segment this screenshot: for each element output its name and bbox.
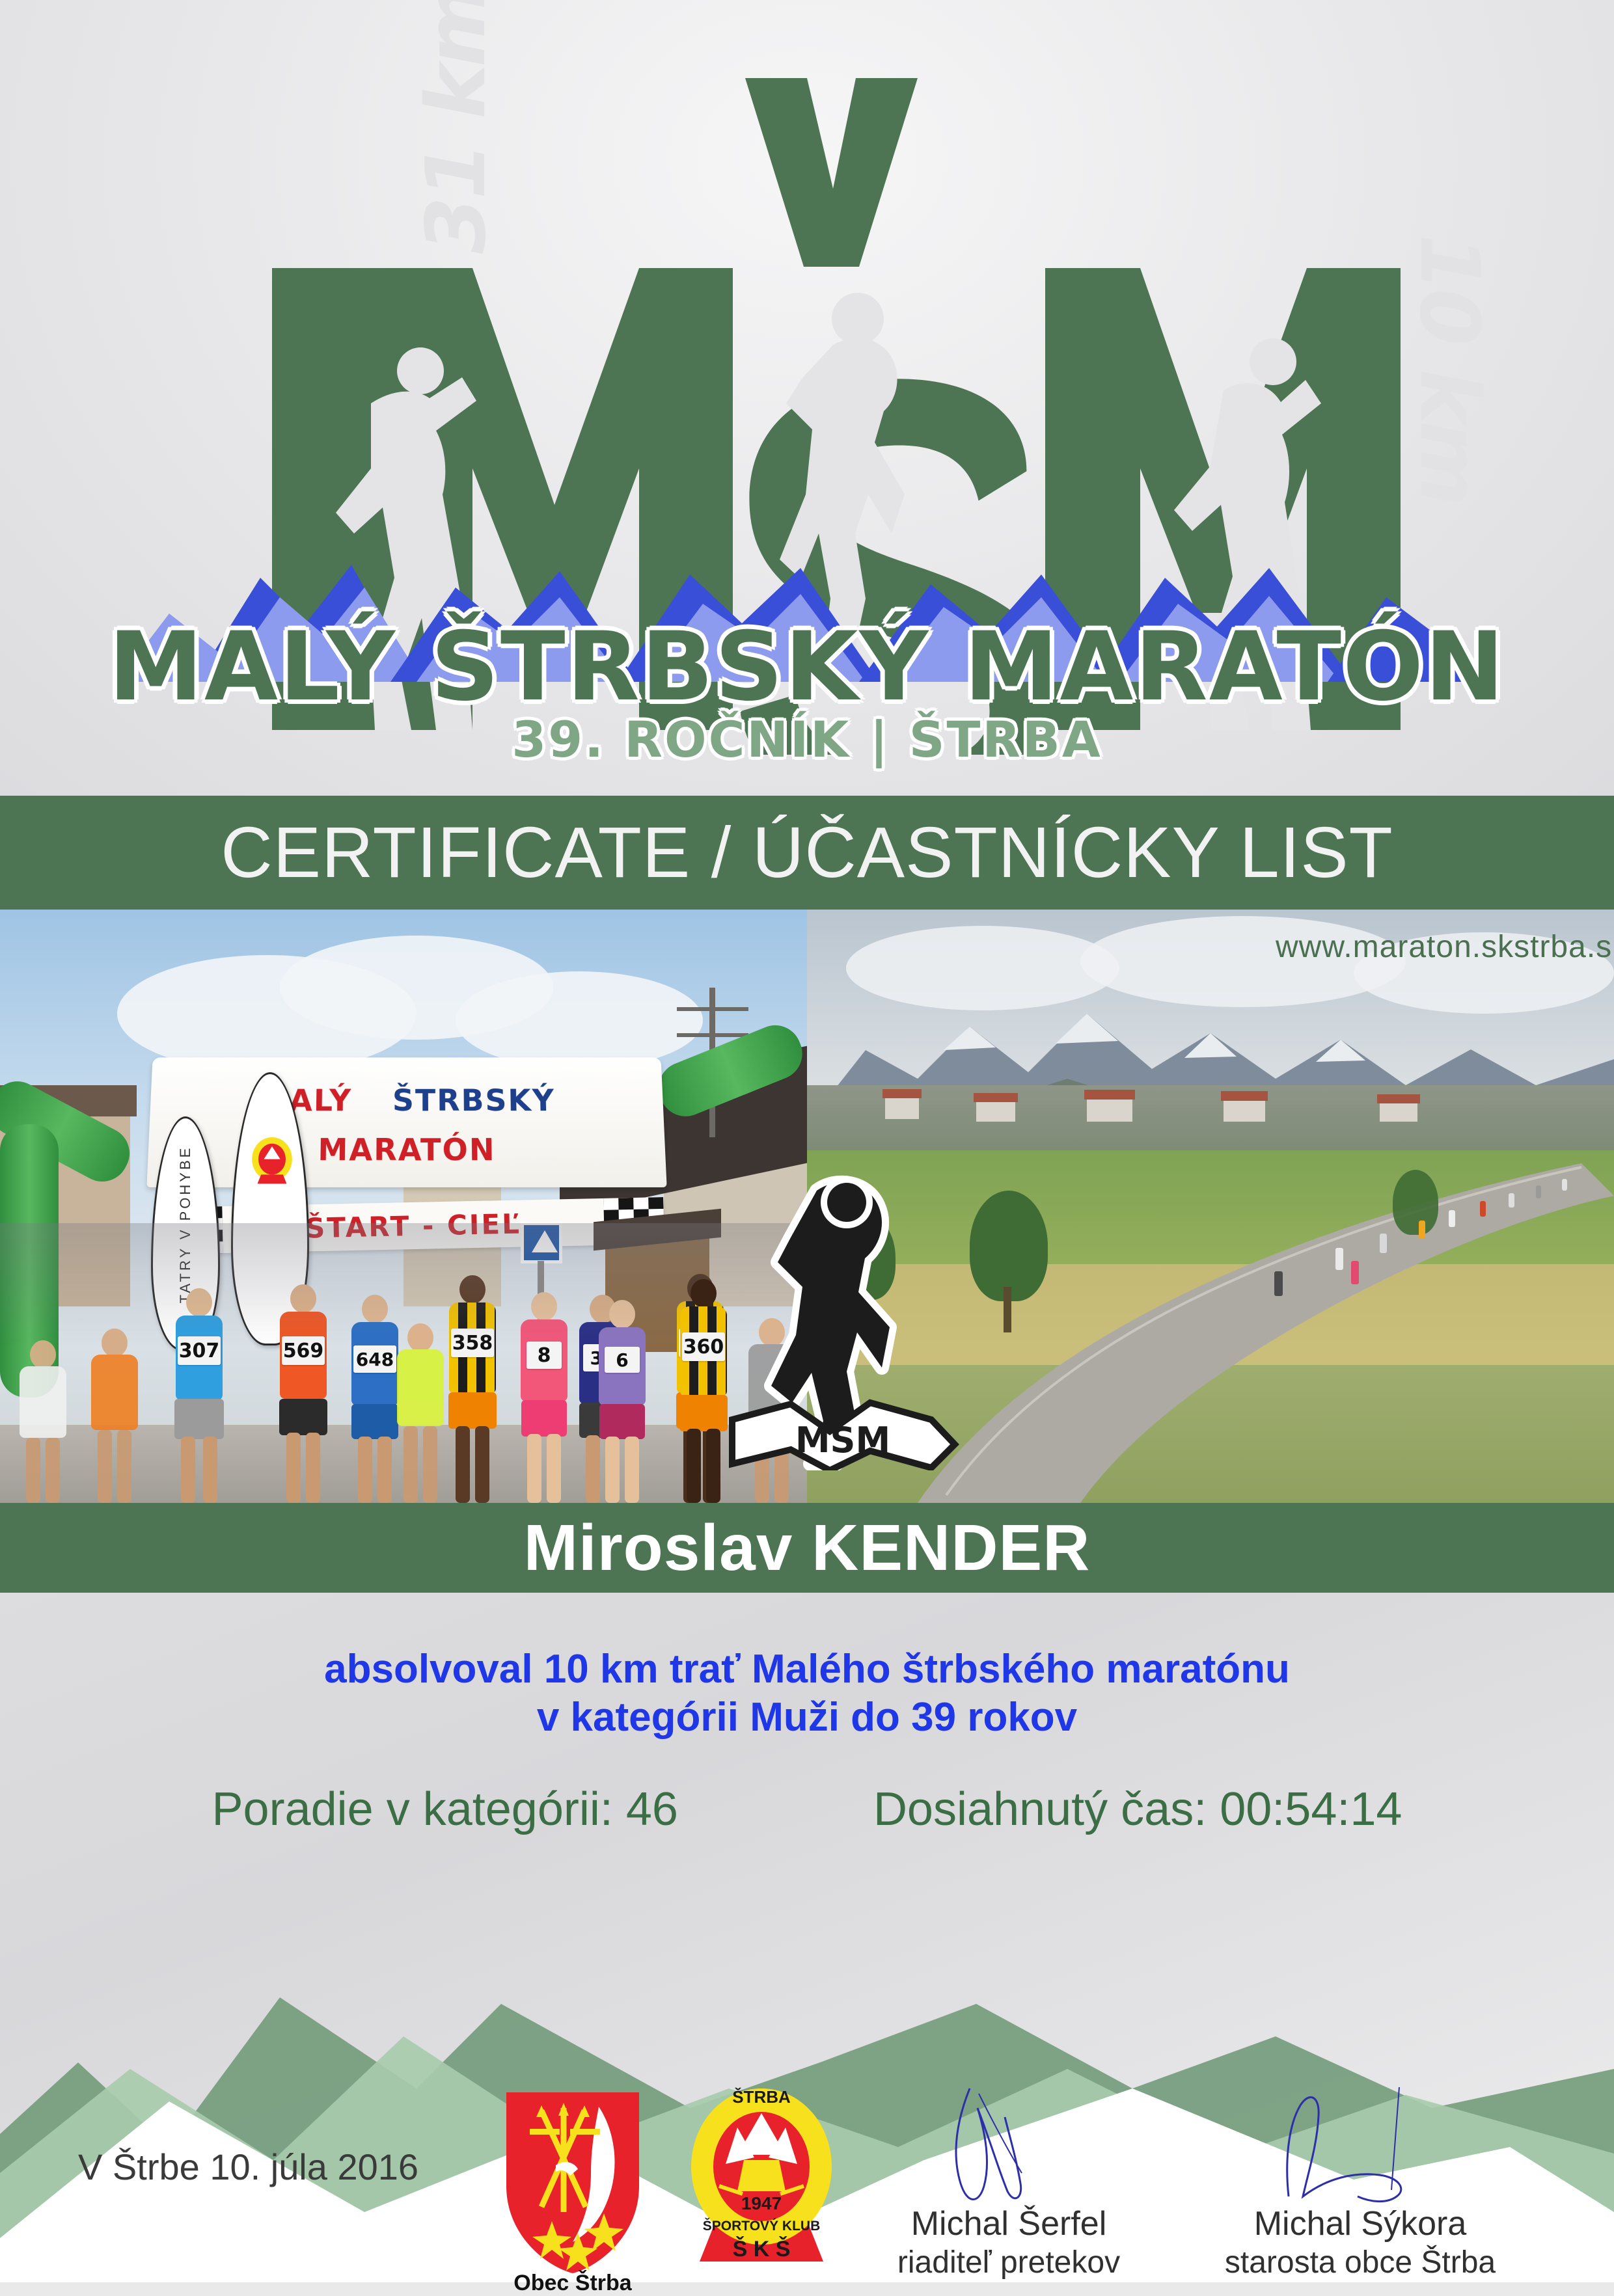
runner-shorts xyxy=(174,1399,224,1439)
event-subtitle: 39. ROČNÍK | ŠTRBA xyxy=(0,710,1614,768)
tree-trunk xyxy=(1004,1287,1011,1332)
runner xyxy=(85,1329,144,1503)
village-roof xyxy=(1377,1094,1420,1103)
arch-word-strbsky: ŠTRBSKÝ xyxy=(392,1083,556,1118)
arch-line1: MALÝ ŠTRBSKÝ xyxy=(150,1083,663,1118)
msm-runner-overlay-icon: MŠM xyxy=(719,1165,966,1470)
logo-caron xyxy=(745,78,918,267)
distant-runner xyxy=(1509,1193,1514,1208)
runner-shorts xyxy=(279,1399,327,1435)
category-rank: Poradie v kategórii: 46 xyxy=(212,1783,678,1836)
finish-time: Dosiahnutý čas: 00:54:14 xyxy=(873,1783,1402,1836)
village-house xyxy=(1087,1097,1132,1122)
village-roof xyxy=(974,1093,1018,1102)
sks-initials: Š K Š xyxy=(733,2236,791,2262)
runner-crowd: 307 358 32 xyxy=(0,1223,807,1503)
distant-runner xyxy=(1335,1248,1343,1270)
certificate-banner-text: CERTIFICATE / ÚČASTNÍCKY LIST xyxy=(221,811,1393,894)
sks-club-logo-icon: ŠTRBA 1947 ŠPORTOVÝ KLUB Š K Š xyxy=(687,2082,836,2277)
event-logo-header: 31 km 10 km MALÝ ŠTRBSKÝ MARATÓN 39. ROČ… xyxy=(0,0,1614,796)
runner-shorts xyxy=(599,1404,645,1439)
distant-runner xyxy=(1536,1185,1541,1198)
issue-date: V Štrbe 10. júla 2016 xyxy=(78,2146,418,2188)
result-row: Poradie v kategórii: 46 Dosiahnutý čas: … xyxy=(0,1783,1614,1836)
utility-crossarm xyxy=(677,1007,748,1011)
sks-top-text: ŠTRBA xyxy=(732,2087,791,2107)
photo-start-line: MALÝ ŠTRBSKÝ MARATÓN ŠTART - CIEĽ xyxy=(0,910,807,1503)
distant-runner xyxy=(1380,1234,1387,1253)
distant-runner xyxy=(1419,1221,1425,1239)
arch-banner-top: MALÝ ŠTRBSKÝ MARATÓN xyxy=(146,1057,666,1187)
certificate-banner: CERTIFICATE / ÚČASTNÍCKY LIST xyxy=(0,796,1614,910)
arch-word-maraton: MARATÓN xyxy=(318,1132,496,1167)
obec-strba-crest-icon xyxy=(501,2088,644,2277)
sks-arc-text: ŠPORTOVÝ KLUB xyxy=(703,2218,820,2234)
runner-shorts xyxy=(448,1392,497,1429)
distant-runner xyxy=(1274,1271,1283,1296)
village-house xyxy=(1224,1098,1265,1122)
description-line-2: v kategórii Muži do 39 rokov xyxy=(0,1694,1614,1740)
runner-head xyxy=(691,1279,717,1308)
certificate-page: 31 km 10 km MALÝ ŠTRBSKÝ MARATÓN 39. ROČ… xyxy=(0,0,1614,2282)
participant-name-banner: Miroslav KENDER xyxy=(0,1503,1614,1593)
signatory-name: Michal Sýkora xyxy=(1191,2204,1529,2243)
msm-overlay-text: MŠM xyxy=(795,1420,890,1461)
distant-runner xyxy=(1562,1179,1567,1191)
website-url: www.maraton.skstrba.sk xyxy=(1276,929,1601,965)
certificate-body: absolvoval 10 km trať Malého štrbského m… xyxy=(0,1593,1614,1879)
runner xyxy=(13,1340,73,1503)
description-line-1: absolvoval 10 km trať Malého štrbského m… xyxy=(0,1646,1614,1692)
distant-runner xyxy=(1351,1261,1359,1284)
village-roof xyxy=(1084,1090,1135,1100)
sks-mini-logo-icon xyxy=(245,1133,299,1187)
arch-line2: MARATÓN xyxy=(148,1132,666,1167)
signature-scribble-icon xyxy=(840,2082,1178,2206)
distant-runner xyxy=(1480,1201,1486,1217)
distant-runner xyxy=(1449,1210,1455,1227)
village-house xyxy=(1380,1101,1417,1122)
utility-crossarm xyxy=(677,1033,748,1037)
tree xyxy=(970,1191,1048,1301)
signature-scribble-icon xyxy=(1191,2082,1529,2206)
municipality-label: Obec Štrba xyxy=(501,2271,644,2296)
village-roof xyxy=(882,1089,922,1098)
signatory-role: starosta obce Štrba xyxy=(1191,2245,1529,2280)
village-house xyxy=(976,1100,1015,1122)
village-roof xyxy=(1221,1091,1268,1101)
certificate-footer: V Štrbe 10. júla 2016 xyxy=(0,2075,1614,2282)
signatory-name: Michal Šerfel xyxy=(840,2204,1178,2243)
sks-year: 1947 xyxy=(741,2193,782,2213)
event-title: MALÝ ŠTRBSKÝ MARATÓN xyxy=(0,612,1614,722)
runner-shorts xyxy=(521,1400,567,1437)
runner xyxy=(390,1323,450,1503)
signatory-role: riaditeľ pretekov xyxy=(840,2245,1178,2280)
village-house xyxy=(885,1096,919,1119)
cloud xyxy=(456,971,703,1069)
tree xyxy=(1393,1170,1438,1235)
bib-number: 6 xyxy=(605,1347,640,1373)
participant-name: Miroslav KENDER xyxy=(524,1511,1091,1586)
